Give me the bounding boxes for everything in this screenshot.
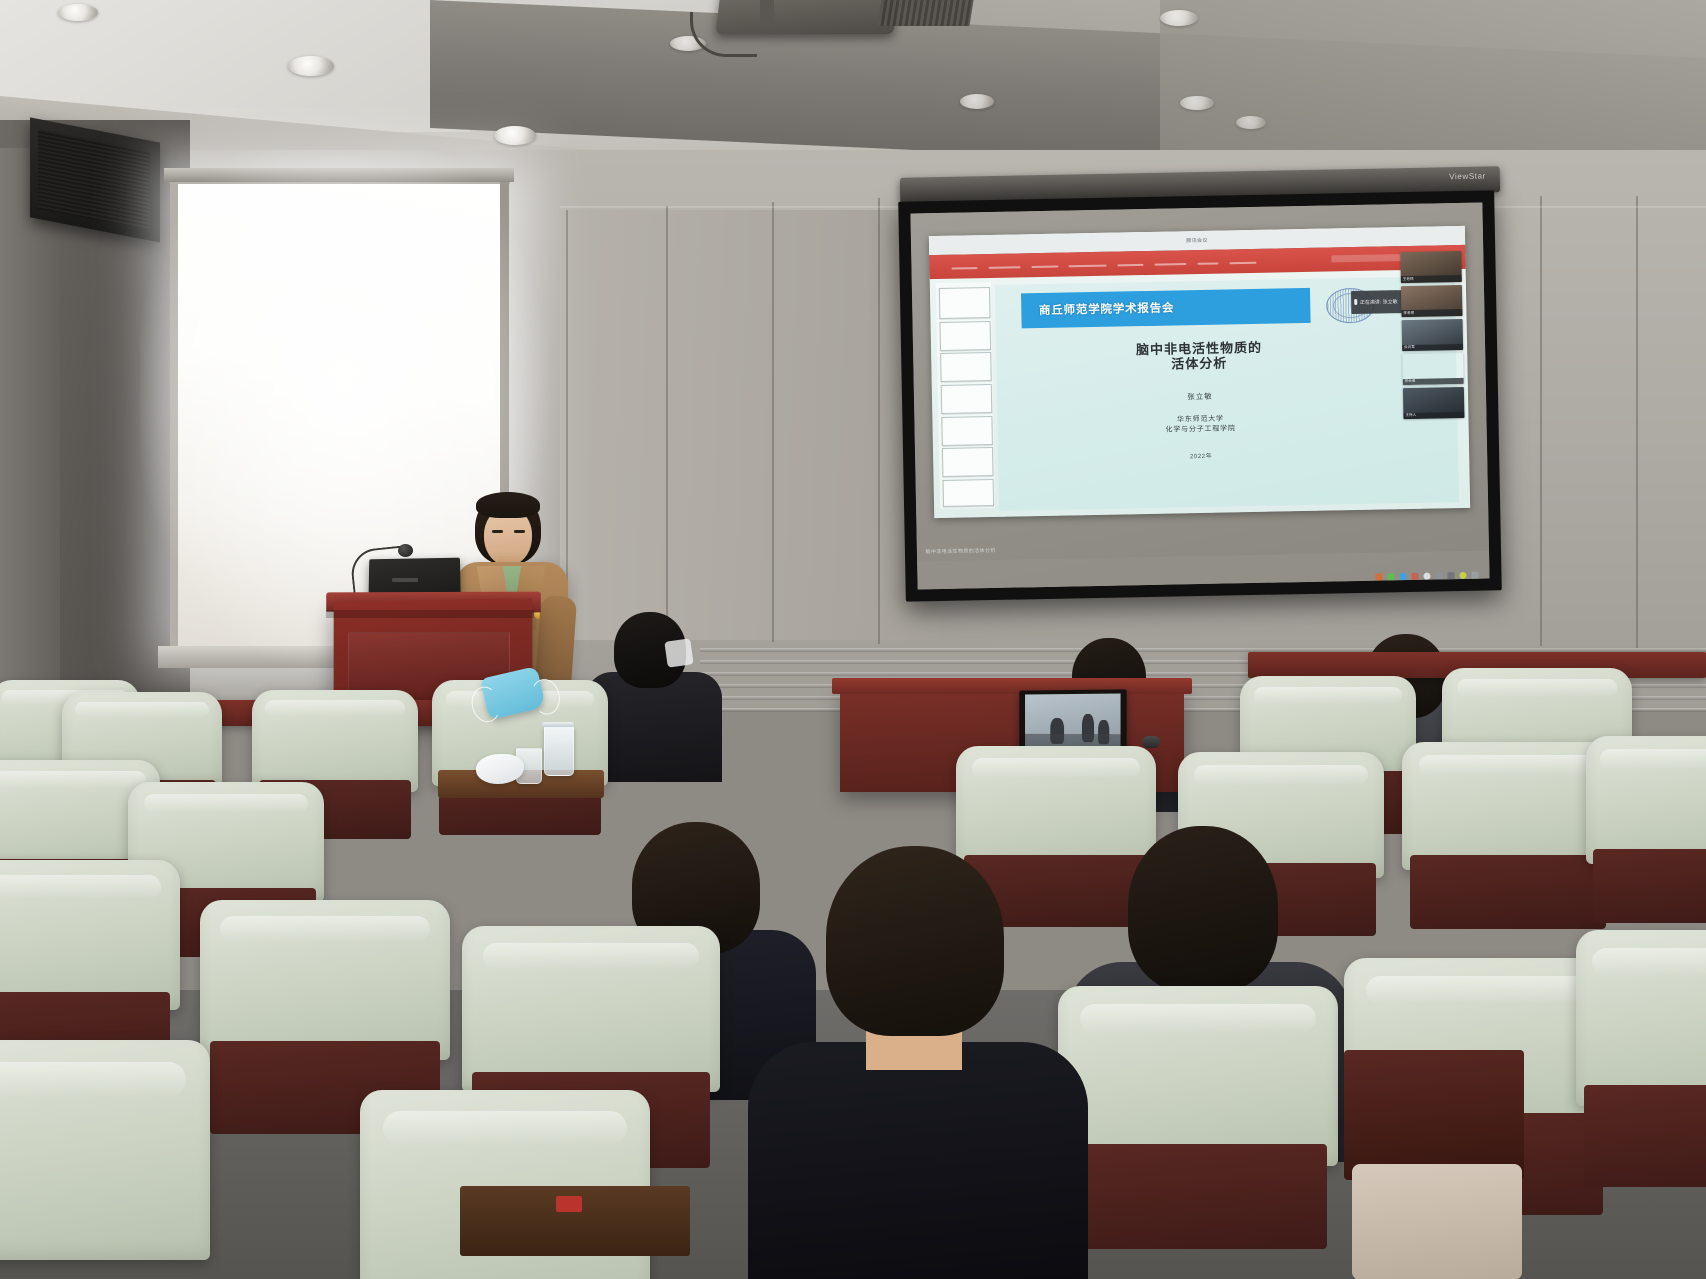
- participant-name-label: 会议室: [1402, 343, 1464, 350]
- wall-seam: [878, 198, 880, 644]
- slide-heading: 脑中非电活性物质的 活体分析: [1049, 338, 1349, 375]
- ceiling-projector: [715, 0, 898, 34]
- slide-thumbnail[interactable]: [940, 352, 992, 382]
- projector-vent-icon: [877, 0, 974, 26]
- ribbon-tool-icon[interactable]: [1197, 262, 1218, 265]
- monitoring-laptop-screen: [1025, 694, 1121, 751]
- wall-seam: [1636, 196, 1638, 648]
- attendee-head: [826, 846, 1004, 1036]
- participant-name-label: 主持人: [1403, 412, 1465, 419]
- water-cup: [544, 726, 574, 776]
- wall-seam: [666, 206, 668, 642]
- ribbon-tool-icon[interactable]: [1155, 263, 1187, 266]
- ceiling-downlight-icon: [58, 4, 98, 21]
- presenter-fringe: [476, 492, 540, 518]
- wall-panel-band: [560, 210, 940, 640]
- left-wall-panel: [0, 148, 60, 748]
- small-red-object: [556, 1196, 582, 1212]
- microphone-icon: [1354, 299, 1357, 305]
- participant-name-label: 李老师: [1401, 309, 1463, 316]
- chair-cover: [0, 860, 180, 1010]
- ribbon-tool-icon[interactable]: [1031, 265, 1058, 268]
- meeting-window: 腾讯会议: [929, 225, 1470, 517]
- slide-thumbnail[interactable]: [939, 321, 991, 351]
- ceiling-downlight-icon: [1236, 116, 1266, 129]
- wall-seam: [772, 202, 774, 642]
- presenter-arm: [535, 595, 577, 689]
- av-control-desk-top: [832, 678, 1192, 694]
- chair[interactable]: [252, 690, 418, 792]
- ribbon-tool-icon[interactable]: [989, 266, 1021, 269]
- slide-thumbnail-rail[interactable]: [935, 282, 995, 509]
- chair[interactable]: [462, 926, 720, 1092]
- network-icon[interactable]: [1375, 573, 1382, 580]
- battery-icon[interactable]: [1387, 573, 1394, 580]
- attendee-body: [748, 1042, 1088, 1279]
- participant-name-label: 参会者: [1403, 377, 1465, 384]
- bluetooth-icon[interactable]: [1435, 572, 1442, 579]
- chair-cover: [956, 746, 1156, 870]
- ribbon-tool-icon[interactable]: [1069, 264, 1107, 267]
- participant-video-tile[interactable]: 李老师: [1401, 285, 1463, 317]
- projected-desktop: 腾讯会议: [910, 203, 1489, 590]
- shield-icon[interactable]: [1423, 572, 1430, 579]
- microphone-icon: [398, 544, 413, 557]
- ceiling-downlight-icon: [1180, 96, 1214, 110]
- keyboard-icon[interactable]: [1471, 571, 1478, 578]
- slide-thumbnail[interactable]: [941, 416, 993, 446]
- chair-cover: [1402, 742, 1614, 870]
- system-tray[interactable]: [1375, 571, 1478, 580]
- ribbon-tool-icon[interactable]: [1117, 264, 1144, 267]
- volume-icon[interactable]: [1447, 572, 1454, 579]
- ceiling-downlight-icon: [1160, 10, 1198, 26]
- laptop-logo-icon: [392, 578, 418, 582]
- meeting-app-title: 腾讯会议: [1186, 237, 1208, 244]
- taskbar-status-text: 脑中非电活性物质的活体分析: [925, 547, 995, 555]
- chair-back: [1584, 1085, 1706, 1187]
- window-frame-left: [170, 176, 178, 654]
- chair-cover: [1058, 986, 1338, 1166]
- ceiling-downlight-icon: [960, 94, 994, 109]
- projection-screen-surface: 腾讯会议: [910, 203, 1489, 590]
- chair-cover: [0, 1040, 210, 1260]
- chair[interactable]: [1058, 986, 1338, 1166]
- chair[interactable]: [200, 900, 450, 1060]
- slide-thumbnail[interactable]: [943, 479, 994, 507]
- participant-name-label: 王老师: [1401, 275, 1463, 282]
- window-blind-rail[interactable]: [164, 168, 514, 182]
- chart-icon[interactable]: [1411, 572, 1418, 579]
- face-mask-icon: [664, 638, 693, 667]
- participant-video-column[interactable]: 王老师 李老师 会议室 参会者 主持人: [1400, 251, 1465, 433]
- lecture-hall-photo: ViewStar 腾讯会议: [0, 0, 1706, 1279]
- slide-thumbnail[interactable]: [939, 287, 991, 319]
- chair-cover: [252, 690, 418, 792]
- chair-cover: [1576, 930, 1706, 1106]
- active-speaker-label: 正在演讲: 张立敏: [1360, 298, 1398, 306]
- chair-back: [1069, 1144, 1327, 1248]
- ceiling-downlight-icon: [288, 56, 334, 76]
- folder-icon[interactable]: [1399, 573, 1406, 580]
- chair[interactable]: [0, 860, 180, 1010]
- wall-seam: [1540, 196, 1542, 646]
- chair-cover: [462, 926, 720, 1092]
- attendee-arm: [1352, 1164, 1522, 1279]
- attendee-head: [1128, 826, 1278, 992]
- presenter-eye: [514, 530, 525, 533]
- slide-thumbnail[interactable]: [941, 384, 993, 414]
- participant-video-tile[interactable]: 王老师: [1400, 251, 1462, 283]
- cloud-icon[interactable]: [1459, 571, 1466, 578]
- water-cup-lid: [542, 722, 574, 727]
- podium-lip: [326, 610, 534, 618]
- chair[interactable]: [1402, 742, 1614, 870]
- slide-thumbnail[interactable]: [942, 447, 994, 477]
- chair-cover: [1586, 736, 1706, 864]
- ceiling-downlight-icon: [494, 126, 536, 145]
- chair[interactable]: [0, 1040, 210, 1260]
- chair[interactable]: [1576, 930, 1706, 1106]
- participant-video-tile[interactable]: 会议室: [1402, 319, 1464, 351]
- participant-video-tile[interactable]: 参会者: [1402, 353, 1464, 385]
- presenter-eye: [492, 530, 503, 533]
- chair-back: [1410, 855, 1605, 929]
- chair-back: [1344, 1050, 1524, 1180]
- ribbon-tool-icon[interactable]: [1230, 261, 1257, 264]
- chair[interactable]: [956, 746, 1156, 870]
- participant-video-tile[interactable]: 主持人: [1403, 387, 1465, 419]
- chair[interactable]: [1586, 736, 1706, 864]
- slide-banner-text: 商丘师范学院学术报告会: [1021, 300, 1174, 319]
- projector-mount: [760, 0, 774, 26]
- ribbon-tool-icon[interactable]: [951, 267, 978, 270]
- chair-back: [1593, 849, 1706, 923]
- projection-screen: 腾讯会议: [898, 190, 1502, 601]
- screen-brand-label: ViewStar: [1449, 172, 1486, 182]
- slide-banner: 商丘师范学院学术报告会: [1021, 288, 1311, 329]
- chair-cover: [200, 900, 450, 1060]
